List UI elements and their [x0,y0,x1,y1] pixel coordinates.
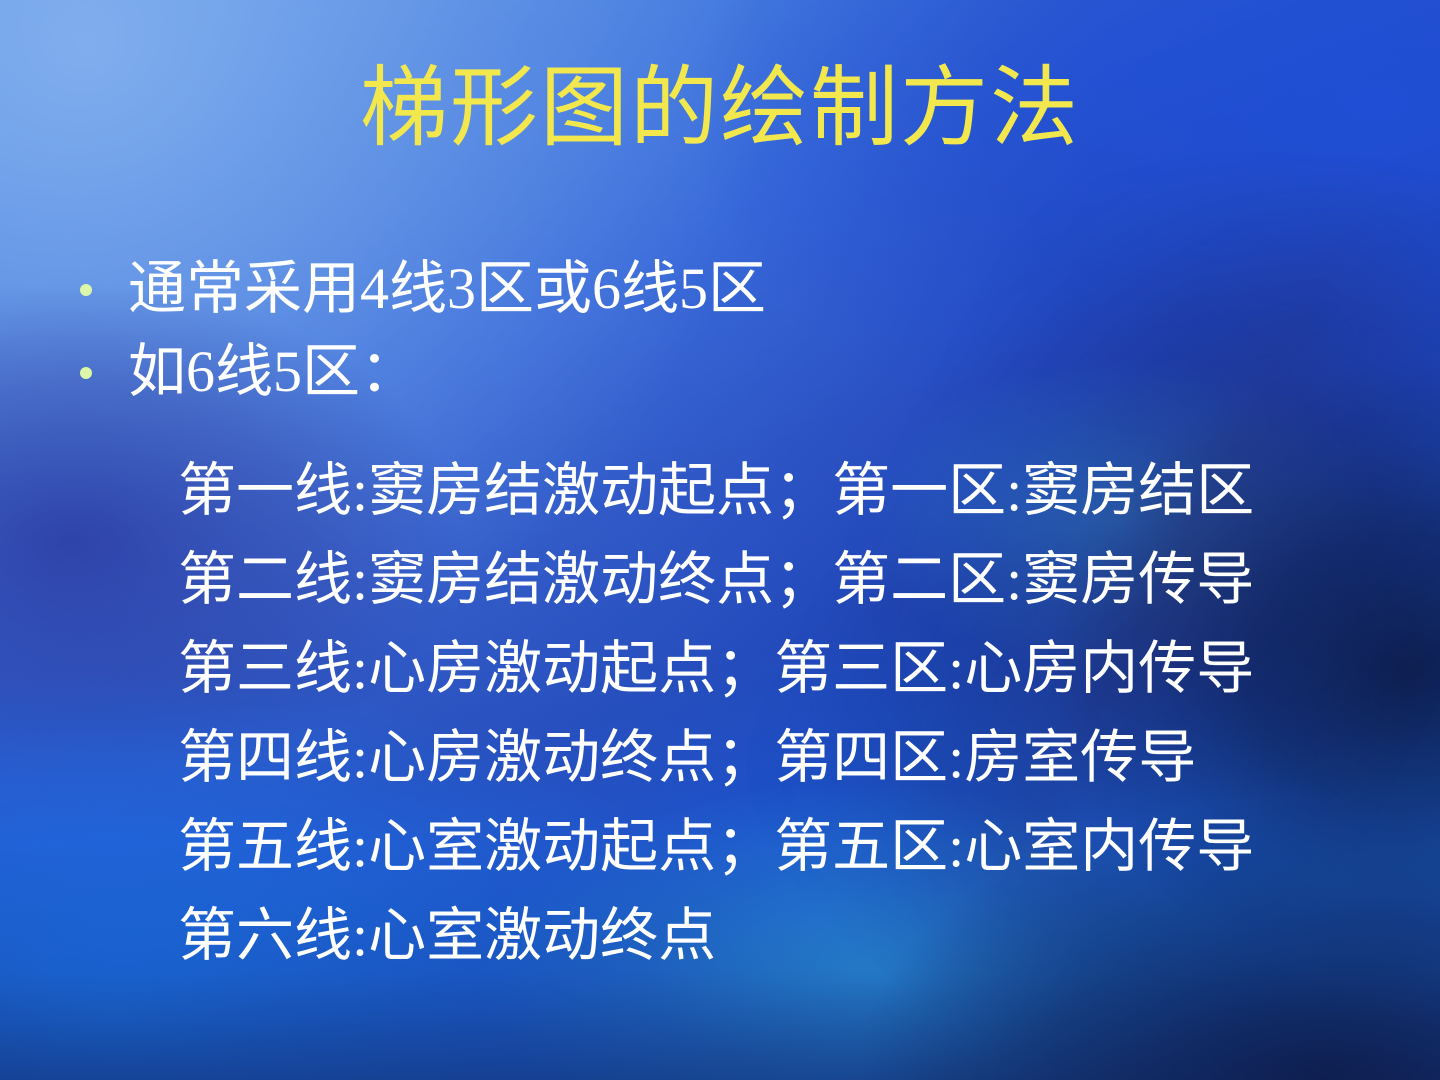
bullet-item-1: 通常采用4线3区或6线5区 [0,258,1440,321]
sub-line-item: 第五线:心室激动起点；第五区:心室内传导 [178,802,1428,891]
bullet-item-1-label: 通常采用4线3区或6线5区 [128,258,1440,321]
bullet-dot-icon [80,284,92,296]
bullet-item-2: 如6线5区： [0,341,1440,404]
slide-body: 通常采用4线3区或6线5区 如6线5区： 第一线:窦房结激动起点；第一区:窦房结… [0,258,1440,423]
sub-line-item: 第四线:心房激动终点；第四区:房室传导 [178,713,1428,802]
sub-line-item: 第六线:心室激动终点 [178,891,1428,980]
sub-line-item: 第一线:窦房结激动起点；第一区:窦房结区 [178,446,1428,535]
sub-line-item: 第三线:心房激动起点；第三区:心房内传导 [178,624,1428,713]
sub-line-item: 第二线:窦房结激动终点；第二区:窦房传导 [178,535,1428,624]
bullet-dot-icon [80,367,92,379]
sub-line-list: 第一线:窦房结激动起点；第一区:窦房结区 第二线:窦房结激动终点；第二区:窦房传… [178,446,1428,980]
bullet-item-2-label: 如6线5区： [128,341,1440,404]
slide-title: 梯形图的绘制方法 [0,64,1440,156]
slide-content: 梯形图的绘制方法 通常采用4线3区或6线5区 如6线5区： 第一线:窦房结激动起… [0,0,1440,1080]
presentation-slide: 梯形图的绘制方法 通常采用4线3区或6线5区 如6线5区： 第一线:窦房结激动起… [0,0,1440,1080]
